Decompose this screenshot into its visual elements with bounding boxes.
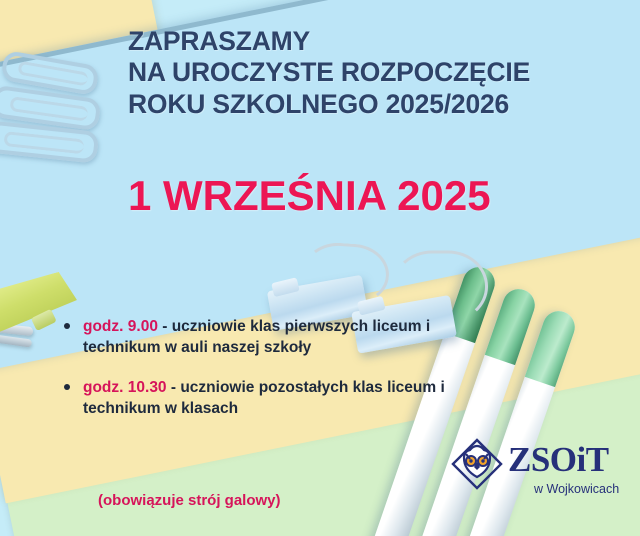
heading-line-2: NA UROCZYSTE ROZPOCZĘCIE — [128, 57, 530, 88]
bullet-dot-icon — [64, 384, 70, 390]
logo-wordmark: ZSOiT — [508, 440, 609, 480]
schedule-time: godz. 9.00 — [83, 318, 158, 335]
logo-subtitle: w Wojkowicach — [534, 482, 619, 496]
heading-line-3: ROKU SZKOLNEGO 2025/2026 — [128, 89, 530, 120]
event-date: 1 WRZEŚNIA 2025 — [128, 172, 491, 220]
owl-in-diamond-icon — [448, 436, 506, 494]
heading-line-1: ZAPRASZAMY — [128, 26, 530, 57]
dress-code-note: (obowiązuje strój galowy) — [98, 492, 281, 509]
list-item: godz. 9.00 - uczniowie klas pierwszych l… — [58, 316, 458, 359]
school-logo: ZSOiT w Wojkowicach — [448, 434, 634, 506]
list-item: godz. 10.30 - uczniowie pozostałych klas… — [58, 377, 458, 420]
schedule-list: godz. 9.00 - uczniowie klas pierwszych l… — [58, 316, 458, 438]
schedule-separator: - — [167, 379, 181, 396]
schedule-time: godz. 10.30 — [83, 379, 167, 396]
schedule-separator: - — [158, 318, 172, 335]
bullet-dot-icon — [64, 323, 70, 329]
poster-heading: ZAPRASZAMY NA UROCZYSTE ROZPOCZĘCIE ROKU… — [128, 26, 530, 120]
poster-canvas: ZAPRASZAMY NA UROCZYSTE ROZPOCZĘCIE ROKU… — [0, 0, 640, 536]
